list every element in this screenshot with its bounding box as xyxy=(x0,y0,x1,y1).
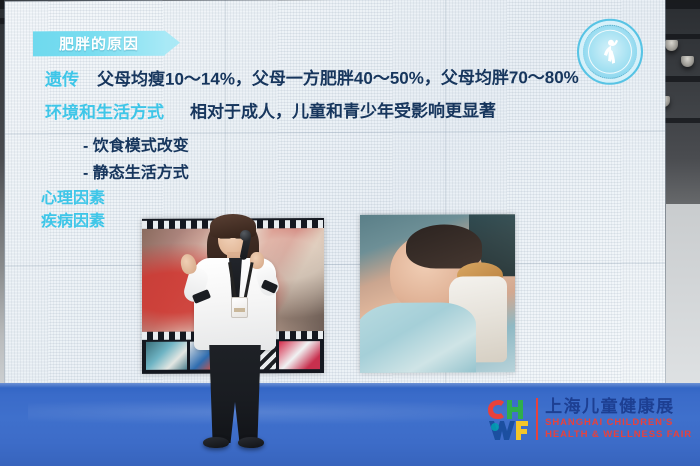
slide-text-heredity: 父母均瘦10～14%，父母一方肥胖40～50%，父母均胖70～80% xyxy=(97,68,579,89)
slide-bullet-diet: - 饮食模式改变 xyxy=(83,132,189,156)
collage-thumbnail xyxy=(279,341,320,369)
slide-line-environment: 环境和生活方式相对于成人，儿童和青少年受影响更显著 xyxy=(45,96,496,123)
ceiling-lamp-icon xyxy=(665,40,678,51)
logo-english-line1: SHANGHAI CHILDREN'S xyxy=(545,418,692,428)
logo-chinese-name: 上海儿童健康展 xyxy=(545,398,692,416)
slide-line-heredity: 遗传父母均瘦10～14%，父母一方肥胖40～50%，父母均胖70～80% xyxy=(45,63,579,90)
microphone-head-icon xyxy=(240,230,251,241)
event-logo: 上海儿童健康展 SHANGHAI CHILDREN'S HEALTH & WEL… xyxy=(485,394,692,444)
ceiling-lamp-icon xyxy=(681,56,694,67)
slide-label-psychological: 心理因素 xyxy=(41,184,105,208)
slide-label-heredity: 遗传 xyxy=(45,70,79,89)
screenshot-stage: 肥胖的原因 遗传父母均瘦10～14%，父母一方肥胖40～50%，父母均胖70～8… xyxy=(0,0,700,466)
slide-label-disease: 疾病因素 xyxy=(41,207,105,231)
speaker-shoe xyxy=(238,437,264,448)
child-shirt xyxy=(360,302,476,373)
child-hair xyxy=(406,224,482,268)
slide-title-banner: 肥胖的原因 xyxy=(33,31,165,57)
slide-text-environment: 相对于成人，儿童和青少年受影响更显著 xyxy=(190,101,496,121)
child-running-figure-icon xyxy=(600,39,620,65)
slide-label-environment: 环境和生活方式 xyxy=(45,103,164,123)
speaker-shoe xyxy=(203,437,229,448)
chwf-logo-mark-icon xyxy=(485,394,529,444)
venue-wall xyxy=(666,204,700,394)
hospital-emblem-icon xyxy=(577,19,643,85)
speaker-badge xyxy=(231,297,248,318)
led-screen: 肥胖的原因 遗传父母均瘦10～14%，父母一方肥胖40～50%，父母均胖70～8… xyxy=(5,0,665,401)
logo-text-block: 上海儿童健康展 SHANGHAI CHILDREN'S HEALTH & WEL… xyxy=(545,398,692,440)
logo-english-line2: HEALTH & WELLNESS FAIR xyxy=(545,430,692,440)
collage-thumbnail xyxy=(146,342,187,370)
presentation-slide: 肥胖的原因 遗传父母均瘦10～14%，父母一方肥胖40～50%，父母均胖70～8… xyxy=(5,0,665,401)
slide-bullet-sedentary: - 静态生活方式 xyxy=(83,159,189,183)
child-eating-photo xyxy=(360,214,515,373)
logo-divider xyxy=(536,398,538,440)
arrow-tip-icon xyxy=(165,31,180,55)
page-title: 肥胖的原因 xyxy=(59,33,139,54)
